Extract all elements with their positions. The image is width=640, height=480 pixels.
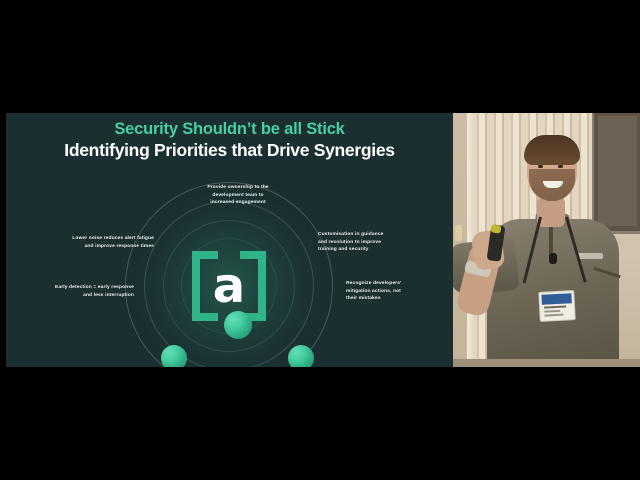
presenter-neck xyxy=(537,197,565,227)
caption-right-upper-line-3: training and security xyxy=(318,246,436,254)
radial-diagram: a xyxy=(126,183,332,367)
name-badge xyxy=(538,290,576,322)
node-left-up xyxy=(161,345,187,367)
caption-right-lower-line-3: their mistakes xyxy=(346,295,450,303)
caption-left-upper: Lower noise reduces alert fatigue and im… xyxy=(32,235,154,250)
caption-left-lower-line-2: and less interruption xyxy=(12,292,134,300)
caption-top: Provide ownership to the development tea… xyxy=(182,184,294,207)
floor xyxy=(453,359,640,367)
slide-title-accent: Security Shouldn’t be all Stick xyxy=(6,120,453,139)
slide-canvas: Security Shouldn’t be all Stick Identify… xyxy=(6,113,453,367)
presentation-clicker-button xyxy=(490,224,501,233)
caption-right-lower: Recognize developers’ mitigation actions… xyxy=(346,280,450,303)
name-badge-line-2 xyxy=(544,310,560,313)
caption-right-upper: Customisation in guidance and resolution… xyxy=(318,231,436,254)
name-badge-header xyxy=(541,293,571,305)
caption-left-upper-line-2: and improve response times xyxy=(32,243,154,251)
caption-right-upper-line-2: and resolution to improve xyxy=(318,239,436,247)
logo-letter: a xyxy=(213,262,245,310)
caption-top-line-1: Provide ownership to the xyxy=(182,184,294,192)
caption-right-lower-line-1: Recognize developers’ xyxy=(346,280,450,288)
caption-left-lower-line-1: Early detection = early response xyxy=(12,284,134,292)
name-badge-line-1 xyxy=(544,306,566,309)
presenter xyxy=(453,113,640,367)
node-top xyxy=(224,311,252,339)
presenter-eye-left xyxy=(538,165,543,168)
presenter-eye-right xyxy=(558,165,563,168)
presenter-video-panel xyxy=(453,113,640,367)
brand-logo: a xyxy=(192,251,266,321)
presenter-hair xyxy=(524,135,580,165)
caption-left-upper-line-1: Lower noise reduces alert fatigue xyxy=(32,235,154,243)
slide-title-block: Security Shouldn’t be all Stick Identify… xyxy=(6,120,453,161)
lapel-microphone xyxy=(549,253,557,264)
caption-left-lower: Early detection = early response and les… xyxy=(12,284,134,299)
caption-right-upper-line-1: Customisation in guidance xyxy=(318,231,436,239)
caption-top-line-3: increased engagement xyxy=(182,199,294,207)
node-right-up xyxy=(288,345,314,367)
caption-right-lower-line-2: mitigation actions, not xyxy=(346,288,450,296)
caption-top-line-2: development team to xyxy=(182,192,294,200)
screen-root: Security Shouldn’t be all Stick Identify… xyxy=(0,0,640,480)
presentation-slide: Security Shouldn’t be all Stick Identify… xyxy=(6,113,453,367)
name-badge-line-3 xyxy=(544,314,563,317)
slide-title-main: Identifying Priorities that Drive Synerg… xyxy=(6,140,453,161)
shirt-logo xyxy=(577,253,603,259)
